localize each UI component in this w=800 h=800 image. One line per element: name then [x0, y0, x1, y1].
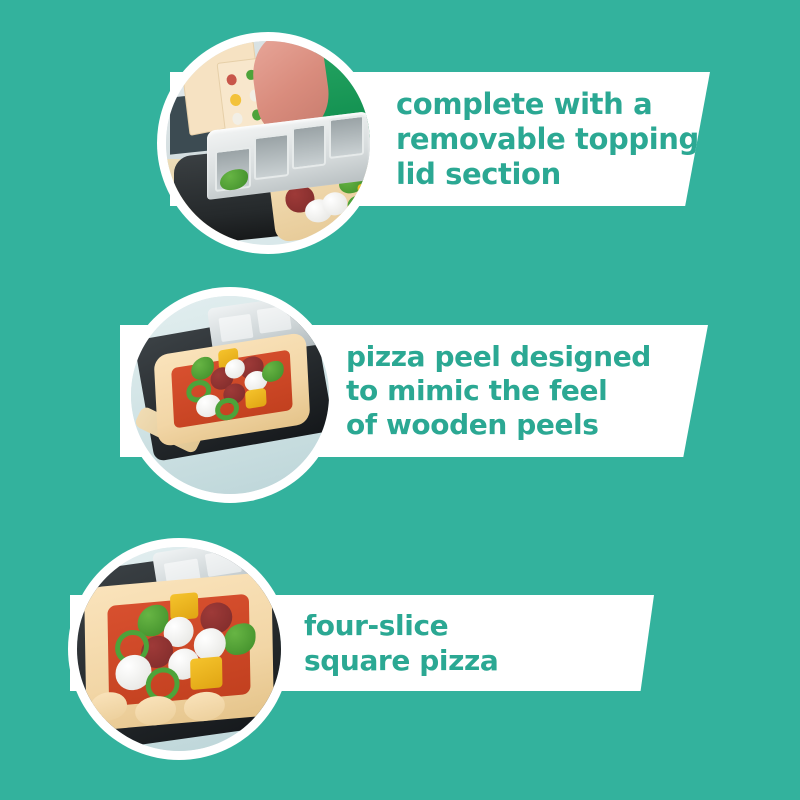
- topping-pepper-ring: [347, 194, 370, 216]
- tray-compartment: [254, 133, 288, 180]
- feature-photo-topping-lid: [157, 32, 379, 254]
- card-dot: [232, 113, 243, 125]
- topping-cheese: [244, 387, 266, 409]
- feature-text-line: complete with a: [396, 87, 710, 122]
- card-dot: [226, 74, 237, 86]
- feature-text-line: pizza peel designed: [346, 340, 708, 374]
- topping-cheese: [190, 656, 222, 690]
- feature-photo-square-pizza: [68, 538, 290, 760]
- feature-text-line: four-slice: [304, 608, 654, 643]
- card-dot: [230, 93, 242, 106]
- lid-rib: [218, 314, 253, 342]
- feature-text-line: lid section: [396, 157, 710, 192]
- lid-rib: [245, 547, 279, 567]
- feature-photo-pizza-peel: [122, 287, 338, 503]
- tray-compartment: [329, 114, 363, 158]
- infographic-canvas: complete with a removable topping lid se…: [0, 0, 800, 800]
- pizza-crust: [84, 571, 273, 730]
- photo-inner: [77, 547, 281, 751]
- topping-cheese: [171, 592, 199, 620]
- lid-rib: [257, 306, 292, 334]
- photo-inner: [166, 41, 370, 245]
- lid-rib: [204, 549, 241, 578]
- tray-compartment: [292, 123, 326, 169]
- lid-rib: [295, 297, 327, 324]
- feature-text-line: to mimic the feel: [346, 374, 708, 408]
- crust-lump: [90, 690, 128, 722]
- photo-inner: [131, 296, 329, 494]
- feature-text-line: of wooden peels: [346, 408, 708, 442]
- feature-text-line: square pizza: [304, 643, 654, 678]
- feature-text-line: removable topping: [396, 122, 710, 157]
